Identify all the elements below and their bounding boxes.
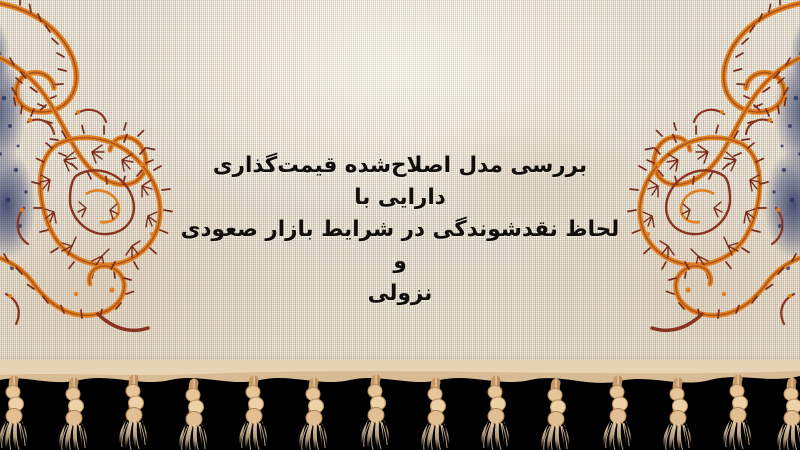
title-line-2: لحاظ نقدشوندگی در شرایط بازار صعودی و	[180, 214, 620, 278]
title-slide: بررسی مدل اصلاح‌شده قیمت‌گذاری دارایی با…	[0, 0, 800, 450]
tassel-row	[0, 379, 800, 450]
title-line-3: نزولی	[180, 278, 620, 310]
title-line-1: بررسی مدل اصلاح‌شده قیمت‌گذاری دارایی با	[180, 150, 620, 214]
fringe-tassels	[0, 360, 800, 450]
slide-title: بررسی مدل اصلاح‌شده قیمت‌گذاری دارایی با…	[180, 150, 620, 310]
knotted-tassel-fringe	[0, 360, 800, 450]
